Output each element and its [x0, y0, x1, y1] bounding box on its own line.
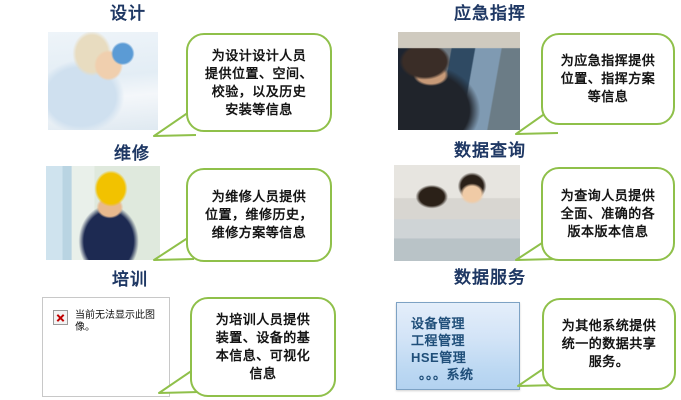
- bubble-text-maintenance: 为维修人员提供 位置，维修历史， 维修方案等信息: [199, 188, 319, 242]
- bubble-data-service: 为其他系统提供 统一的数据共享 服务。: [542, 298, 676, 390]
- photo-maintenance: [46, 166, 160, 260]
- section-title-query: 数据查询: [435, 141, 545, 161]
- data-service-box: 设备管理 工程管理 HSE管理 。。。系统: [396, 302, 520, 390]
- bubble-emergency: 为应急指挥提供 位置、指挥方案 等信息: [541, 33, 675, 125]
- bubble-training: 为培训人员提供 装置、设备的基 本信息、可视化 信息: [190, 297, 336, 397]
- section-title-design: 设计: [78, 4, 178, 24]
- section-title-emergency: 应急指挥: [435, 4, 545, 24]
- broken-image-message: 当前无法显示此图像。: [75, 310, 161, 334]
- broken-image-training: 当前无法显示此图像。: [42, 297, 170, 397]
- bubble-design: 为设计设计人员 提供位置、空间、 校验，以及历史 安装等信息: [186, 33, 332, 132]
- data-service-line-1: 设备管理: [411, 315, 519, 332]
- section-title-maintenance: 维修: [82, 144, 182, 164]
- infographic-canvas: 设计 为设计设计人员 提供位置、空间、 校验，以及历史 安装等信息 应急指挥 为…: [0, 0, 681, 400]
- bubble-maintenance: 为维修人员提供 位置，维修历史， 维修方案等信息: [186, 168, 332, 262]
- data-service-line-2: 工程管理: [411, 332, 519, 349]
- bubble-text-design: 为设计设计人员 提供位置、空间、 校验，以及历史 安装等信息: [199, 47, 319, 119]
- bubble-text-data-service: 为其他系统提供 统一的数据共享 服务。: [556, 317, 663, 371]
- bubble-text-emergency: 为应急指挥提供 位置、指挥方案 等信息: [555, 52, 662, 106]
- bubble-text-training: 为培训人员提供 装置、设备的基 本信息、可视化 信息: [210, 311, 317, 383]
- bubble-query: 为查询人员提供 全面、准确的各 版本版本信息: [541, 167, 675, 261]
- photo-emergency: [398, 32, 520, 130]
- data-service-line-3: HSE管理: [411, 349, 519, 366]
- bubble-text-query: 为查询人员提供 全面、准确的各 版本版本信息: [555, 187, 662, 241]
- data-service-line-4: 。。。系统: [411, 366, 519, 383]
- broken-image-x-icon: [53, 310, 68, 325]
- photo-query: [394, 165, 520, 261]
- section-title-training: 培训: [80, 270, 180, 290]
- photo-design: [48, 32, 158, 130]
- section-title-data-service: 数据服务: [435, 268, 545, 288]
